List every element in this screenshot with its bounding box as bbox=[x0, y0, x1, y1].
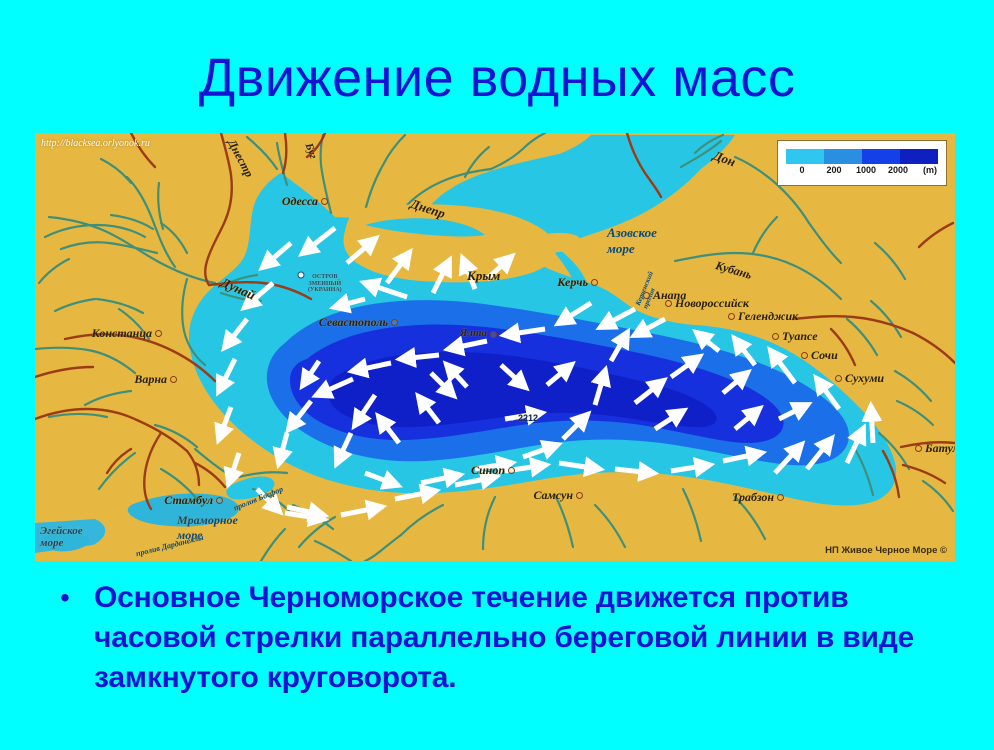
city-marker-dot bbox=[835, 375, 842, 382]
depth-legend-ticks: 020010002000(m) bbox=[786, 165, 946, 175]
depth-legend-swatch-1 bbox=[824, 149, 862, 164]
city-marker-dot bbox=[777, 494, 784, 501]
city-marker-dot bbox=[643, 292, 650, 299]
city-marker-dot bbox=[391, 319, 398, 326]
bullet-marker-icon: • bbox=[60, 578, 94, 618]
city-marker-dot bbox=[321, 198, 328, 205]
depth-legend-swatch-2 bbox=[862, 149, 900, 164]
city-marker-dot bbox=[915, 445, 922, 452]
city-marker-dot bbox=[772, 333, 779, 340]
city-marker-dot bbox=[801, 352, 808, 359]
page-title: Движение водных масс bbox=[0, 47, 994, 109]
city-marker-dot bbox=[508, 467, 515, 474]
depth-legend-swatch-0 bbox=[786, 149, 824, 164]
current-arrows-overlay bbox=[35, 133, 955, 561]
black-sea-current-map: АзовскоемореМраморноемореЭгейскоемореКры… bbox=[35, 133, 955, 561]
depth-legend-tick: 200 bbox=[818, 165, 850, 175]
city-marker-dot bbox=[216, 497, 223, 504]
city-marker-dot bbox=[576, 492, 583, 499]
city-marker-dot bbox=[155, 330, 162, 337]
depth-legend: 020010002000(m) bbox=[777, 140, 947, 186]
depth-legend-tick: 1000 bbox=[850, 165, 882, 175]
city-marker-dot bbox=[170, 376, 177, 383]
city-marker-dot bbox=[490, 331, 497, 338]
city-marker-dot bbox=[665, 300, 672, 307]
bullet-block: • Основное Черноморское течение движется… bbox=[60, 578, 950, 698]
city-marker-dot bbox=[591, 279, 598, 286]
bullet-text: Основное Черноморское течение движется п… bbox=[94, 578, 950, 698]
depth-legend-tick: 2000 bbox=[882, 165, 914, 175]
depth-legend-tick: 0 bbox=[786, 165, 818, 175]
depth-legend-tick: (m) bbox=[914, 165, 946, 175]
depth-legend-swatch-3 bbox=[900, 149, 938, 164]
city-marker-dot bbox=[728, 313, 735, 320]
depth-legend-colorbar bbox=[786, 149, 938, 164]
